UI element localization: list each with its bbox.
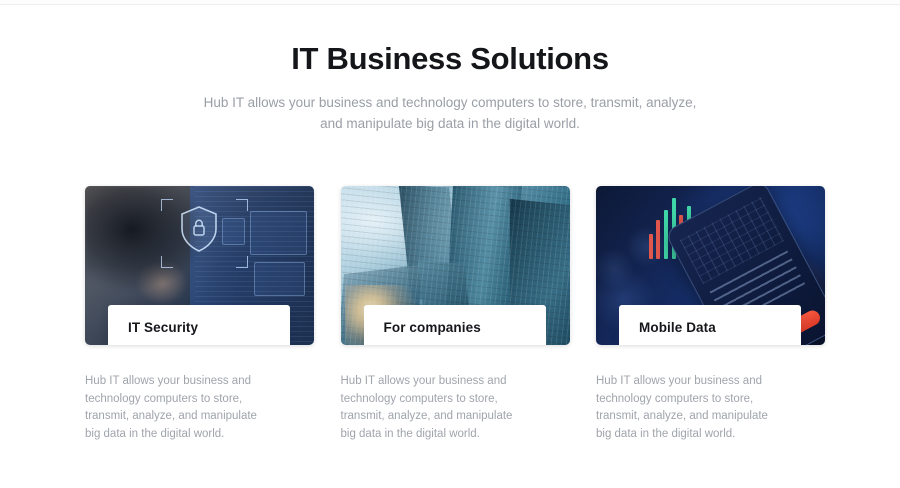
shield-lock-icon bbox=[179, 205, 219, 253]
card-image-for-companies: For companies bbox=[341, 186, 570, 345]
card-it-security[interactable]: IT Security Hub IT allows your business … bbox=[85, 186, 314, 455]
card-image-mobile-data: Mobile Data bbox=[596, 186, 825, 345]
card-label-it-security[interactable]: IT Security bbox=[108, 305, 290, 345]
header-divider bbox=[0, 4, 900, 5]
card-for-companies[interactable]: For companies Hub IT allows your busines… bbox=[341, 186, 570, 455]
card-label-text: For companies bbox=[384, 320, 481, 335]
card-image-it-security: IT Security bbox=[85, 186, 314, 345]
card-body-for-companies: Hub IT allows your business and technolo… bbox=[341, 373, 521, 443]
hud-bracket-bottom-left bbox=[161, 256, 173, 268]
card-label-text: IT Security bbox=[128, 320, 198, 335]
page-root: IT Business Solutions Hub IT allows your… bbox=[0, 0, 900, 488]
hud-bracket-top-left bbox=[161, 199, 173, 211]
hud-panel-3 bbox=[222, 218, 245, 245]
hud-panel-1 bbox=[250, 211, 307, 254]
card-mobile-data[interactable]: Mobile Data Hub IT allows your business … bbox=[596, 186, 825, 455]
hud-panel-2 bbox=[254, 262, 304, 296]
card-body-mobile-data: Hub IT allows your business and technolo… bbox=[596, 373, 776, 443]
page-header: IT Business Solutions Hub IT allows your… bbox=[0, 40, 900, 134]
cards-row: IT Security Hub IT allows your business … bbox=[85, 186, 825, 455]
hud-bracket-top-right bbox=[236, 199, 248, 211]
page-subtitle: Hub IT allows your business and technolo… bbox=[200, 92, 700, 134]
card-label-for-companies[interactable]: For companies bbox=[364, 305, 546, 345]
card-label-mobile-data[interactable]: Mobile Data bbox=[619, 305, 801, 345]
card-label-text: Mobile Data bbox=[639, 320, 716, 335]
hud-bracket-bottom-right bbox=[236, 256, 248, 268]
card-body-it-security: Hub IT allows your business and technolo… bbox=[85, 373, 265, 443]
page-title: IT Business Solutions bbox=[0, 40, 900, 78]
